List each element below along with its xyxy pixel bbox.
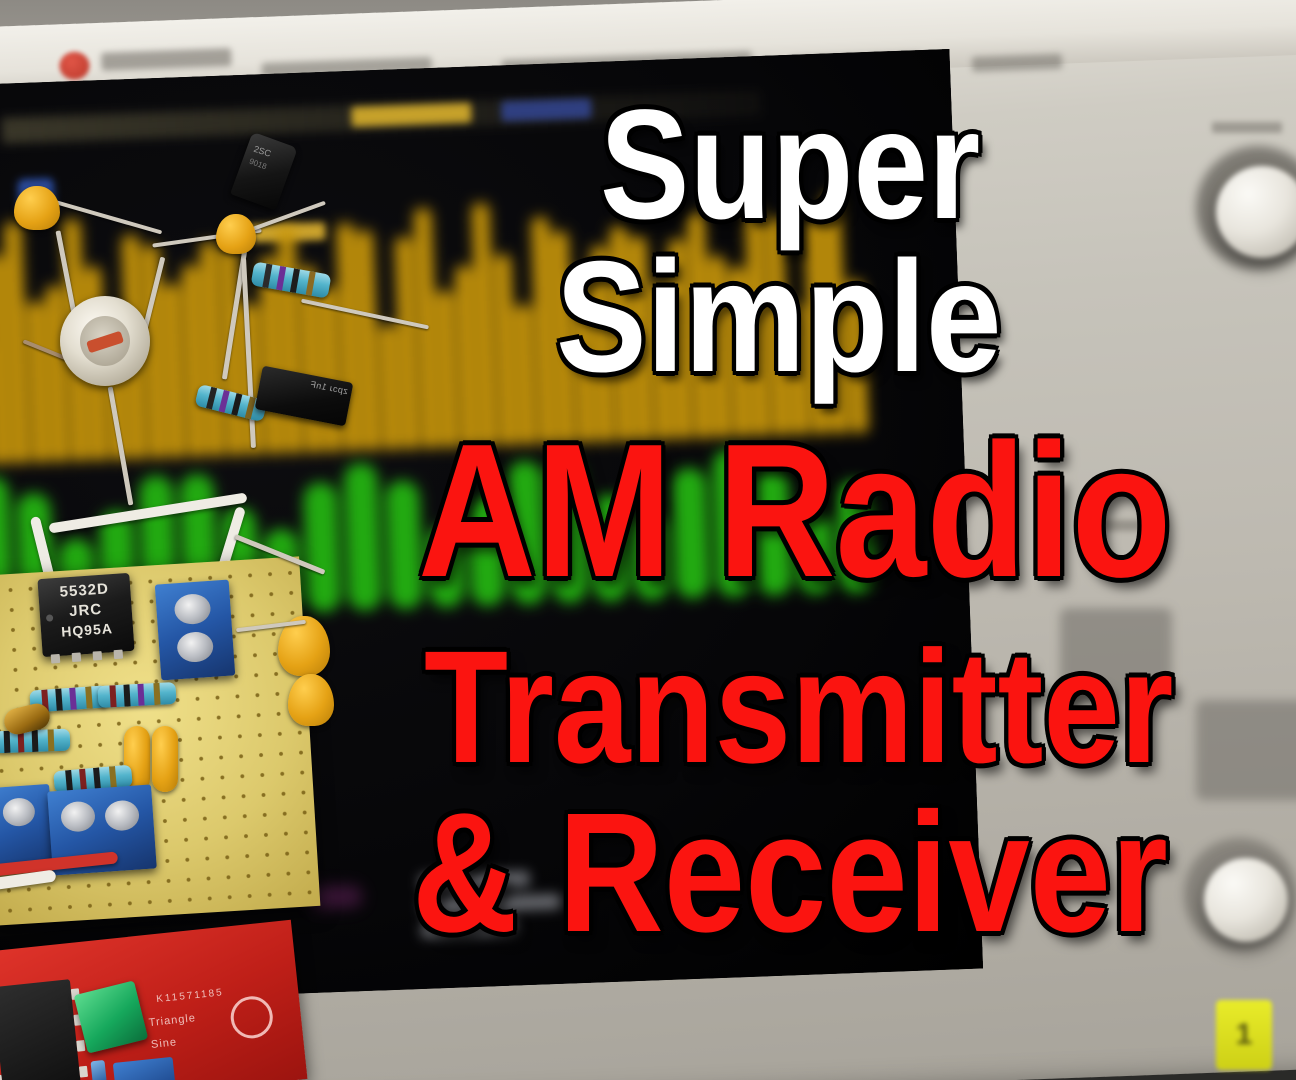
terminal-screw	[174, 593, 212, 625]
dip-pin	[114, 650, 124, 660]
resistor-band	[306, 271, 316, 296]
title-line-am-radio-text: AM Radio	[418, 430, 1171, 593]
terminal-screw	[104, 799, 140, 831]
resistor-band	[79, 769, 87, 791]
title-line-super: Super	[600, 98, 1042, 232]
title-line-transmitter-text: Transmitter	[424, 638, 1173, 776]
resistor-band	[109, 766, 117, 788]
pcb-capacitor	[90, 1060, 106, 1080]
dip-pin	[93, 651, 103, 661]
extra-text-blur	[972, 54, 1062, 72]
resistor-band	[85, 686, 93, 708]
pcb-dip-pin	[0, 1075, 3, 1080]
screw-terminal-block	[155, 580, 236, 681]
resistor-band	[153, 683, 160, 705]
yellow-capacitor	[216, 214, 256, 254]
title-line-receiver: & Receiver	[412, 800, 1291, 946]
thumbnail-canvas: 1 2SC 9018	[0, 0, 1296, 1080]
pcb-dip-pin	[79, 1066, 88, 1078]
resistor-band	[32, 730, 39, 752]
waveform-segment	[343, 462, 382, 611]
dip8-opamp: 5532D JRC HQ95A	[37, 573, 134, 657]
dip-pin	[72, 652, 82, 662]
pcb-dip-ic	[0, 979, 82, 1080]
channel-1-button[interactable]: 1	[1216, 1000, 1272, 1070]
terminal-screw	[176, 631, 214, 663]
title-line-transmitter: Transmitter	[424, 638, 1295, 776]
ic-label-line-2: JRC	[39, 599, 132, 622]
yellow-capacitor	[14, 186, 60, 230]
yellow-capacitor	[288, 674, 334, 726]
terminal-screw	[60, 800, 96, 832]
resistor-band	[276, 266, 286, 291]
terminal-screw	[2, 797, 36, 827]
resistor-band	[290, 268, 300, 293]
title-line-super-text: Super	[600, 98, 980, 232]
resistor-band	[137, 684, 144, 706]
trimmer-capacitor	[60, 296, 150, 386]
knob-caption-blur	[1212, 122, 1282, 133]
dip-pin	[51, 654, 61, 664]
resistor-band	[123, 684, 130, 706]
pcb-label-sine: Sine	[150, 1036, 177, 1051]
resistor-band	[206, 387, 217, 410]
ic-label-line-3: HQ95A	[41, 619, 134, 641]
pcb-mounting-hole	[229, 994, 275, 1040]
resistor-band	[55, 689, 63, 711]
resistor-band	[231, 393, 242, 416]
resistor-band	[93, 767, 101, 789]
menu-chip-blue	[501, 98, 592, 121]
green-jumper-header[interactable]	[74, 980, 149, 1053]
pcb-dip-pin	[76, 1040, 85, 1052]
pcb-silkscreen-id: K11571185	[156, 987, 224, 1005]
pcb-terminal-block	[113, 1057, 176, 1080]
title-line-receiver-text: & Receiver	[412, 800, 1168, 946]
resistor-band	[219, 390, 230, 413]
metal-film-resistor	[97, 682, 176, 708]
channel-1-button-label: 1	[1216, 1018, 1272, 1052]
waveform-segment	[303, 481, 342, 613]
resistor-band	[48, 729, 55, 751]
resistor-band	[262, 263, 272, 288]
yellow-capacitor	[152, 726, 178, 792]
resistor-band	[109, 685, 116, 707]
ic-label-line-1: 5532D	[38, 579, 131, 602]
title-line-am-radio: AM Radio	[418, 430, 1294, 593]
pcb-label-triangle: Triangle	[148, 1012, 196, 1029]
title-line-simple: Simple	[556, 250, 1074, 386]
resistor-band	[69, 688, 77, 710]
title-line-simple-text: Simple	[556, 250, 1002, 386]
resistor-band	[245, 396, 256, 419]
resistor-band	[4, 731, 11, 753]
